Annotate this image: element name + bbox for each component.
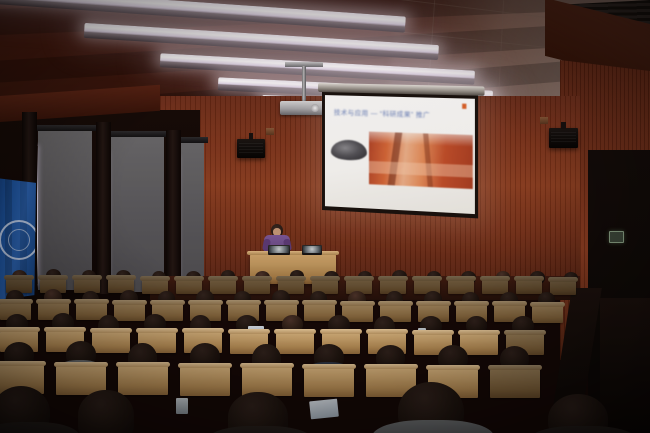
slide-title-text: 技术与应用 — “科研成果” 推广: [334, 106, 467, 120]
exit-sign: [609, 231, 624, 243]
left-wall-plate: [266, 128, 274, 135]
screen-surface: 技术与应用 — “科研成果” 推广: [325, 95, 475, 214]
aisle-right-outer: [600, 298, 650, 433]
auditorium-seat[interactable]: [210, 279, 236, 294]
lectern-laptop-left[interactable]: [268, 245, 290, 255]
auditorium-seat[interactable]: [304, 367, 354, 397]
attendee-shoulders: [206, 426, 314, 433]
slide-marker-icon: [462, 104, 466, 109]
auditorium-seat[interactable]: [92, 331, 130, 353]
window-blind-1[interactable]: [38, 130, 92, 290]
auditorium-seat[interactable]: [550, 280, 576, 295]
attendee-shoulders: [372, 420, 494, 433]
auditorium-seat[interactable]: [482, 279, 508, 294]
auditorium-seat[interactable]: [114, 303, 145, 321]
auditorium-seat[interactable]: [516, 279, 542, 294]
audience-area: [0, 268, 650, 433]
right-wall-speaker: [549, 128, 578, 148]
attendee-device[interactable]: [176, 398, 188, 414]
auditorium-seat[interactable]: [532, 305, 563, 323]
attendee-laptop[interactable]: [309, 399, 339, 420]
slide-photo: [369, 132, 473, 189]
attendee-head: [78, 390, 134, 433]
flag-emblem-icon: [0, 220, 39, 260]
projector: [280, 101, 324, 115]
slide-object-photo: [331, 139, 367, 161]
lectern-laptop-right[interactable]: [302, 245, 322, 255]
auditorium-seat[interactable]: [490, 368, 540, 398]
left-wall-speaker: [237, 139, 265, 158]
projector-mount-pole: [302, 66, 306, 104]
auditorium-seat[interactable]: [180, 366, 230, 396]
lecture-hall-photo: 技术与应用 — “科研成果” 推广: [0, 0, 650, 433]
attendee-shoulders: [0, 422, 80, 433]
projection-screen: 技术与应用 — “科研成果” 推广: [322, 92, 478, 218]
auditorium-seat[interactable]: [118, 365, 168, 395]
right-wall-plate: [540, 117, 548, 124]
auditorium-seat[interactable]: [242, 366, 292, 396]
auditorium-seat[interactable]: [276, 332, 314, 354]
projector-lens-icon: [311, 104, 319, 112]
